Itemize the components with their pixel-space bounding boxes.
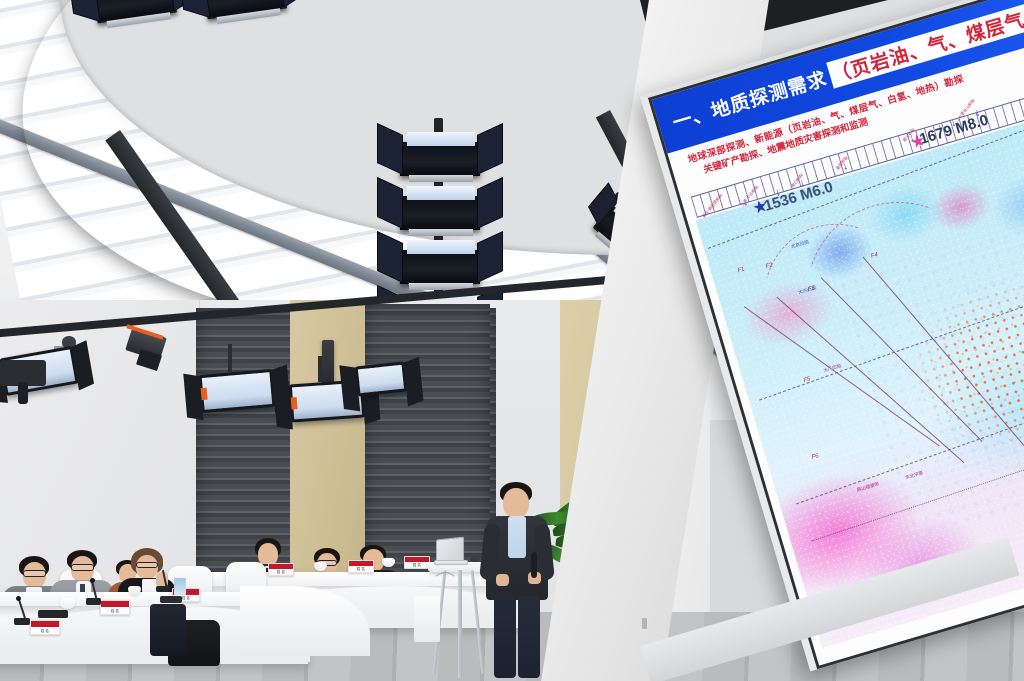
- nameplate-accent-bar: [349, 561, 373, 566]
- lectern-leg: [458, 570, 462, 678]
- softbox-light: [355, 361, 408, 396]
- light-base: [409, 229, 473, 236]
- wall-jack-plate: [642, 618, 647, 629]
- laptop-base: [434, 560, 468, 565]
- microphone-base: [86, 598, 101, 605]
- nameplate: 姓 名: [348, 560, 374, 573]
- light-panel: [407, 132, 475, 146]
- seated-legs: [150, 604, 186, 656]
- shirt: [508, 516, 526, 558]
- studio-light-fixture: [93, 0, 177, 23]
- nameplate-text: 姓 名: [101, 610, 129, 613]
- microphone-base: [156, 586, 170, 592]
- nameplate-text: 姓 名: [405, 564, 429, 567]
- glasses-icon: [136, 562, 158, 568]
- nameplate: 姓 名: [30, 620, 60, 635]
- studio-light-fixture: [400, 196, 480, 230]
- nameplate: 姓 名: [404, 556, 430, 569]
- trouser-leg-left: [494, 596, 516, 678]
- trouser-leg-right: [518, 596, 540, 678]
- studio-scene: 姓 名 姓 名 姓 名: [0, 0, 1024, 681]
- cable-loop: [432, 572, 458, 598]
- studio-light-fixture: [400, 250, 480, 284]
- barn-door-icon: [339, 365, 360, 411]
- tablet-device: [160, 596, 182, 603]
- hand-left: [496, 574, 509, 586]
- nameplate-text: 姓 名: [269, 571, 293, 574]
- light-panel: [407, 186, 475, 200]
- clicker-device: [470, 556, 480, 562]
- light-clamp: [201, 388, 208, 400]
- nameplate-accent-bar: [31, 621, 59, 627]
- nameplate-accent-bar: [405, 557, 429, 562]
- floor-cabinet: [414, 596, 440, 642]
- handheld-microphone: [531, 552, 537, 578]
- microphone-head: [90, 578, 95, 583]
- nameplate: 姓 名: [100, 600, 130, 615]
- light-base: [409, 175, 473, 182]
- nameplate-accent-bar: [101, 601, 129, 607]
- head: [503, 488, 529, 518]
- nameplate-accent-bar: [269, 564, 293, 569]
- softbox-light: [198, 369, 275, 413]
- tablet-device: [38, 610, 68, 618]
- nameplate-text: 姓 名: [31, 630, 59, 633]
- barn-door-icon: [274, 383, 293, 430]
- microphone-head: [16, 596, 21, 601]
- microphone-base: [14, 618, 30, 625]
- nameplate: 姓 名: [268, 563, 294, 576]
- light-clamp: [291, 397, 298, 409]
- light-stem: [318, 356, 322, 382]
- glasses-icon: [71, 564, 94, 571]
- studio-light-fixture: [400, 142, 480, 176]
- camera-lens-icon: [18, 382, 28, 404]
- glasses-icon: [23, 570, 46, 577]
- smartphone-icon: [174, 578, 186, 595]
- teacup: [60, 598, 75, 609]
- light-stem: [228, 344, 232, 372]
- nameplate-text: 姓 名: [349, 568, 373, 571]
- light-panel: [407, 240, 475, 254]
